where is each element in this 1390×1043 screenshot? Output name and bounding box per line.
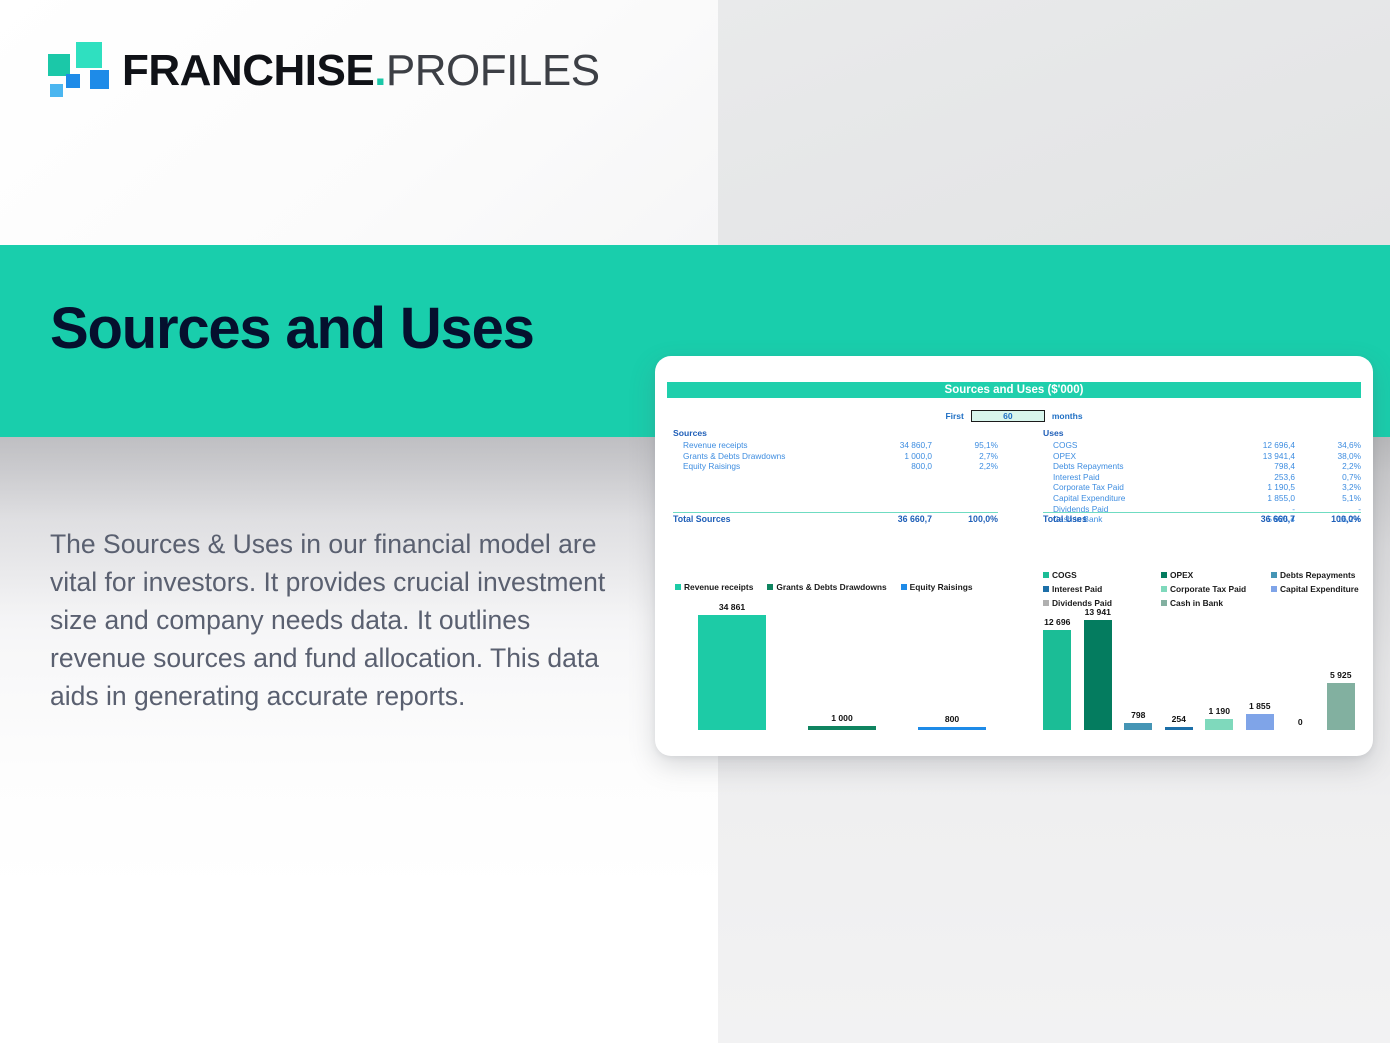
bar[interactable] bbox=[918, 727, 986, 730]
sources-table: Sources Revenue receipts 34 860,7 95,1% … bbox=[673, 428, 998, 472]
table-row: Equity Raisings 800,0 2,2% bbox=[673, 461, 998, 472]
table-row: Grants & Debts Drawdowns 1 000,0 2,7% bbox=[673, 451, 998, 462]
row-amount: 253,6 bbox=[1213, 472, 1295, 483]
row-label: COGS bbox=[1043, 440, 1213, 451]
bar[interactable] bbox=[1205, 719, 1233, 730]
bar[interactable] bbox=[1165, 727, 1193, 730]
months-input[interactable]: 60 bbox=[971, 410, 1045, 422]
sources-bars: 34 861 1 000 800 bbox=[677, 590, 1007, 730]
brand-name-bold: FRANCHISE bbox=[122, 46, 374, 95]
total-amount: 36 660,7 bbox=[1213, 514, 1295, 525]
spreadsheet-sheet: Sources and Uses ($'000) First 60 months… bbox=[667, 382, 1361, 742]
row-amount: 798,4 bbox=[1213, 461, 1295, 472]
row-label: Grants & Debts Drawdowns bbox=[673, 451, 850, 462]
bar-slot[interactable]: 1 190 bbox=[1199, 590, 1240, 730]
sources-table-header: Sources bbox=[673, 428, 998, 440]
background-panel-top-left bbox=[0, 0, 718, 245]
row-percent: 95,1% bbox=[932, 440, 998, 451]
row-percent: 2,7% bbox=[932, 451, 998, 462]
row-amount: 1 855,0 bbox=[1213, 493, 1295, 504]
row-label: Revenue receipts bbox=[673, 440, 850, 451]
bar-slot[interactable]: 800 bbox=[897, 590, 1007, 730]
row-label: Corporate Tax Paid bbox=[1043, 482, 1213, 493]
bar-value-label: 1 855 bbox=[1249, 701, 1271, 711]
bar-slot[interactable]: 1 855 bbox=[1240, 590, 1281, 730]
brand-name-dot: . bbox=[374, 46, 386, 95]
legend-swatch-icon bbox=[1161, 572, 1167, 578]
bar[interactable] bbox=[1084, 620, 1112, 730]
total-percent: 100,0% bbox=[1295, 514, 1361, 525]
table-row: COGS 12 696,4 34,6% bbox=[1043, 440, 1361, 451]
row-label: Capital Expenditure bbox=[1043, 493, 1213, 504]
sources-bar-chart: 34 861 1 000 800 bbox=[677, 590, 1007, 742]
bar-value-label: 1 190 bbox=[1208, 706, 1230, 716]
total-label: Total Uses bbox=[1043, 514, 1213, 525]
row-amount: 34 860,7 bbox=[850, 440, 932, 451]
row-percent: 3,2% bbox=[1295, 482, 1361, 493]
bar-slot[interactable]: 0 bbox=[1280, 590, 1321, 730]
bar[interactable] bbox=[1327, 683, 1355, 730]
bar-slot[interactable]: 798 bbox=[1118, 590, 1159, 730]
row-amount: 1 190,5 bbox=[1213, 482, 1295, 493]
spreadsheet-title: Sources and Uses ($'000) bbox=[667, 382, 1361, 398]
sources-total-row: Total Sources 36 660,7 100,0% bbox=[673, 512, 998, 525]
row-label: Debts Repayments bbox=[1043, 461, 1213, 472]
legend-label: COGS bbox=[1052, 570, 1077, 580]
spreadsheet-card: Sources and Uses ($'000) First 60 months… bbox=[655, 356, 1373, 756]
bar-slot[interactable]: 5 925 bbox=[1321, 590, 1362, 730]
legend-label: Debts Repayments bbox=[1280, 570, 1355, 580]
bar-slot[interactable]: 34 861 bbox=[677, 590, 787, 730]
row-percent: 0,7% bbox=[1295, 472, 1361, 483]
row-amount: 13 941,4 bbox=[1213, 451, 1295, 462]
bar-value-label: 798 bbox=[1131, 710, 1145, 720]
period-selector-row: First 60 months bbox=[667, 409, 1361, 423]
bar-value-label: 1 000 bbox=[831, 713, 853, 723]
legend-swatch-icon bbox=[1271, 572, 1277, 578]
table-row: Interest Paid 253,6 0,7% bbox=[1043, 472, 1361, 483]
period-prefix-label: First bbox=[945, 411, 963, 421]
row-label: Interest Paid bbox=[1043, 472, 1213, 483]
bar-value-label: 13 941 bbox=[1085, 607, 1111, 617]
brand-wordmark: FRANCHISE.PROFILES bbox=[122, 40, 600, 102]
bar[interactable] bbox=[1246, 714, 1274, 730]
row-amount: 12 696,4 bbox=[1213, 440, 1295, 451]
uses-bars: 12 696 13 941 798 254 bbox=[1037, 590, 1361, 730]
row-amount: 800,0 bbox=[850, 461, 932, 472]
bar-value-label: 5 925 bbox=[1330, 670, 1352, 680]
total-label: Total Sources bbox=[673, 514, 850, 525]
bar[interactable] bbox=[1043, 630, 1071, 730]
period-suffix-label: months bbox=[1052, 411, 1083, 421]
table-row: Debts Repayments 798,4 2,2% bbox=[1043, 461, 1361, 472]
legend-swatch-icon bbox=[1043, 572, 1049, 578]
page-title: Sources and Uses bbox=[50, 300, 534, 358]
table-row: OPEX 13 941,4 38,0% bbox=[1043, 451, 1361, 462]
total-percent: 100,0% bbox=[932, 514, 998, 525]
bar-slot[interactable]: 12 696 bbox=[1037, 590, 1078, 730]
table-row: Revenue receipts 34 860,7 95,1% bbox=[673, 440, 998, 451]
legend-item[interactable]: Debts Repayments bbox=[1271, 570, 1361, 580]
bar-value-label: 800 bbox=[945, 714, 959, 724]
row-label: Equity Raisings bbox=[673, 461, 850, 472]
legend-label: OPEX bbox=[1170, 570, 1193, 580]
table-row: Corporate Tax Paid 1 190,5 3,2% bbox=[1043, 482, 1361, 493]
legend-item[interactable]: COGS bbox=[1043, 570, 1161, 580]
bar-value-label: 34 861 bbox=[719, 602, 745, 612]
brand-logo[interactable]: FRANCHISE.PROFILES bbox=[48, 42, 548, 104]
bar-value-label: 12 696 bbox=[1044, 617, 1070, 627]
uses-bar-chart: 12 696 13 941 798 254 bbox=[1037, 590, 1361, 742]
row-percent: 2,2% bbox=[932, 461, 998, 472]
five-squares-logo-mark-icon bbox=[48, 42, 112, 100]
row-percent: 2,2% bbox=[1295, 461, 1361, 472]
uses-table: Uses COGS 12 696,4 34,6% OPEX 13 941,4 3… bbox=[1043, 428, 1361, 525]
bar-slot[interactable]: 13 941 bbox=[1078, 590, 1119, 730]
row-percent: 34,6% bbox=[1295, 440, 1361, 451]
uses-total-row: Total Uses 36 660,7 100,0% bbox=[1043, 512, 1361, 525]
table-row: Capital Expenditure 1 855,0 5,1% bbox=[1043, 493, 1361, 504]
row-percent: 5,1% bbox=[1295, 493, 1361, 504]
slide-canvas: FRANCHISE.PROFILES Sources and Uses The … bbox=[0, 0, 1390, 1043]
row-percent: 38,0% bbox=[1295, 451, 1361, 462]
background-panel-top-right bbox=[718, 0, 1390, 245]
legend-item[interactable]: OPEX bbox=[1161, 570, 1271, 580]
bar[interactable] bbox=[808, 726, 876, 730]
bar-value-label: 254 bbox=[1172, 714, 1186, 724]
description-paragraph: The Sources & Uses in our financial mode… bbox=[50, 525, 630, 715]
bar-value-label: 0 bbox=[1298, 717, 1303, 727]
total-amount: 36 660,7 bbox=[850, 514, 932, 525]
bar-slot[interactable]: 254 bbox=[1159, 590, 1200, 730]
bar[interactable] bbox=[698, 615, 766, 730]
row-label: OPEX bbox=[1043, 451, 1213, 462]
bar-slot[interactable]: 1 000 bbox=[787, 590, 897, 730]
row-amount: 1 000,0 bbox=[850, 451, 932, 462]
brand-name-light: PROFILES bbox=[386, 46, 600, 95]
uses-table-header: Uses bbox=[1043, 428, 1361, 440]
bar[interactable] bbox=[1124, 723, 1152, 730]
